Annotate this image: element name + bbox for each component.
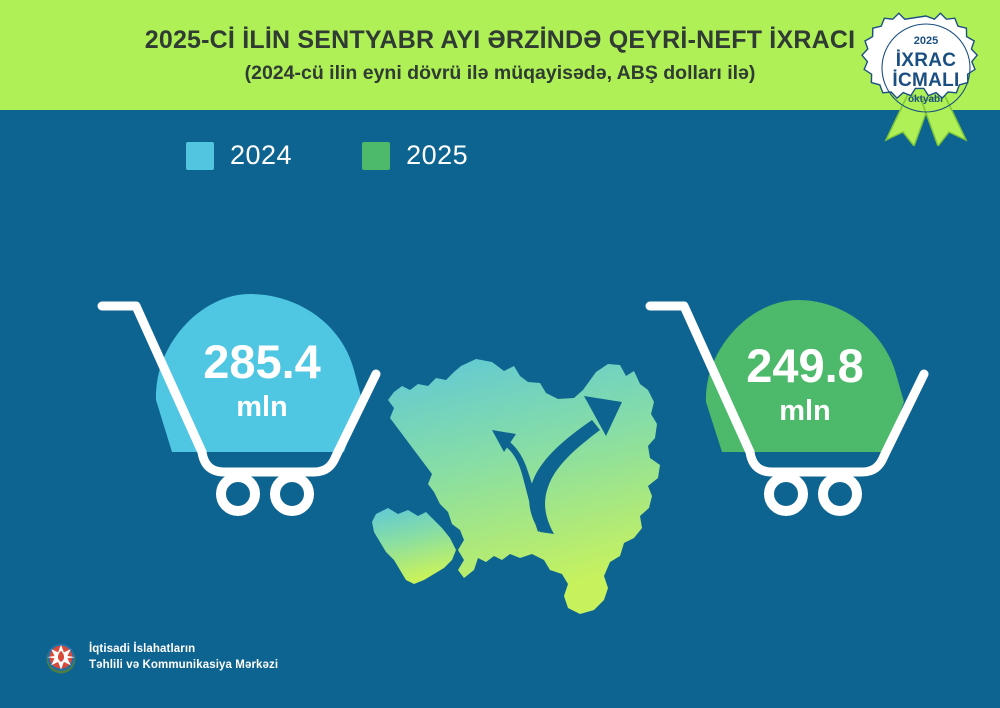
badge-year: 2025 (914, 35, 938, 47)
azerbaijan-state-emblem-icon (44, 641, 78, 675)
map-nakhchivan-shape (372, 508, 456, 584)
organization-name: İqtisadi İslahatların Təhlili və Kommuni… (89, 642, 278, 673)
cart-2025-unit: mln (779, 395, 831, 427)
organization-name-line1: İqtisadi İslahatların (89, 642, 278, 658)
page-title: 2025-Cİ İLİN SENTYABR AYI ƏRZİNDƏ QEYRİ-… (145, 25, 856, 55)
badge-line2: İCMALI (892, 70, 959, 91)
organization-logo: İqtisadi İslahatların Təhlili və Kommuni… (44, 641, 278, 675)
cart-2024: 285.4 mln (92, 286, 392, 516)
legend-swatch-2025-icon (362, 142, 390, 170)
legend-item-2025[interactable]: 2025 (362, 140, 468, 171)
cart-2024-wheels-icon (221, 477, 309, 511)
cart-2024-value: 285.4 (203, 335, 321, 388)
badge-line1: İXRAC (896, 50, 957, 71)
title-block: 2025-Cİ İLİN SENTYABR AYI ƏRZİNDƏ QEYRİ-… (0, 0, 1000, 110)
legend-swatch-2024-icon (186, 142, 214, 170)
legend-item-2024[interactable]: 2024 (186, 140, 292, 171)
ixrac-icmali-badge: 2025 İXRAC İCMALI oktyabr (856, 6, 996, 146)
infographic-canvas: 2025-Cİ İLİN SENTYABR AYI ƏRZİNDƏ QEYRİ-… (0, 0, 1000, 708)
legend-label-2024: 2024 (230, 140, 292, 171)
cart-2025-wheels-icon (769, 477, 857, 511)
chart-legend: 2024 2025 (186, 140, 468, 171)
organization-name-line2: Təhlili və Kommunikasiya Mərkəzi (89, 658, 278, 674)
cart-2025-value: 249.8 (746, 339, 864, 392)
badge-month: oktyabr (908, 94, 944, 105)
page-subtitle: (2024-cü ilin eyni dövrü ilə müqayisədə,… (245, 62, 756, 85)
legend-label-2025: 2025 (406, 140, 468, 171)
cart-2024-unit: mln (236, 391, 288, 423)
azerbaijan-map (368, 338, 708, 623)
